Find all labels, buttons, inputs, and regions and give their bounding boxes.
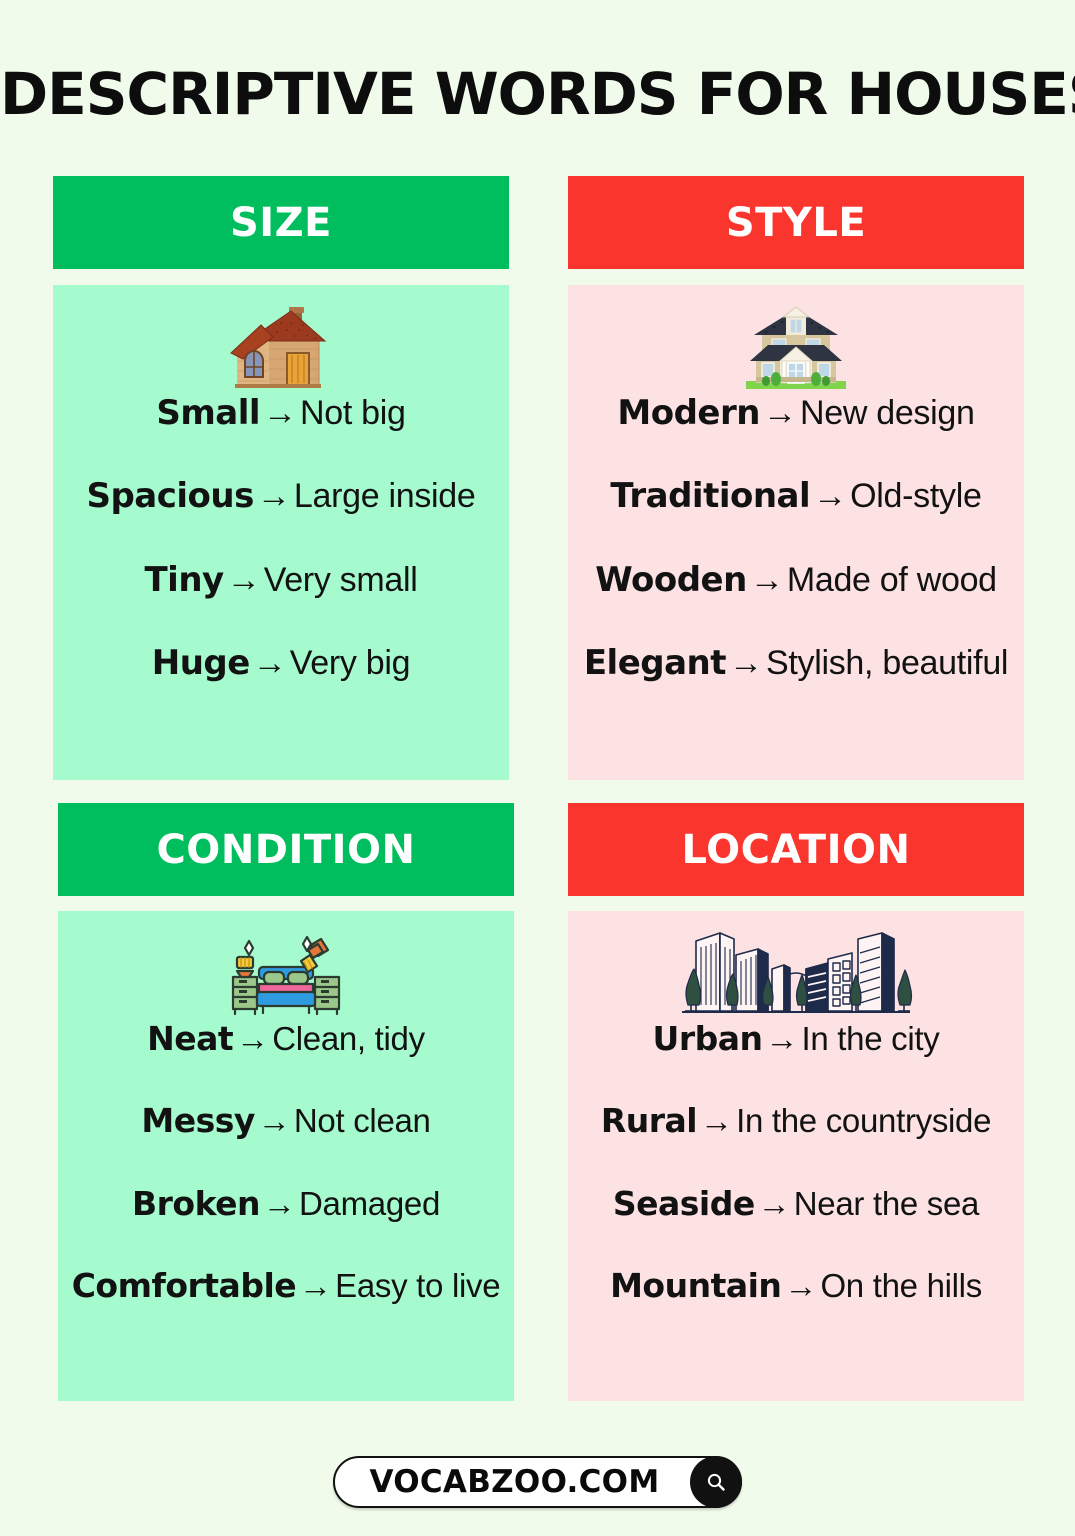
word-term: Urban: [653, 1019, 763, 1058]
word-meaning: Old-style: [850, 477, 981, 515]
card-size-header: SIZE: [53, 176, 509, 269]
word-term: Neat: [147, 1019, 233, 1058]
word-entry: Small→Not big: [53, 395, 509, 432]
word-term: Messy: [141, 1101, 255, 1140]
card-style-header: STYLE: [568, 176, 1024, 269]
word-meaning: In the countryside: [736, 1102, 991, 1139]
word-entry: Neat→Clean, tidy: [58, 1021, 514, 1057]
card-size: SIZE: [53, 176, 509, 780]
card-condition-body: Neat→Clean, tidy Messy→Not clean Broken→…: [58, 911, 514, 1401]
arrow-glyph: →: [224, 561, 264, 599]
card-size-entries: Small→Not big Spacious→Large inside Tiny…: [53, 395, 509, 729]
word-meaning: New design: [800, 394, 975, 432]
card-location-header: LOCATION: [568, 803, 1024, 896]
site-badge[interactable]: VOCABZOO.COM: [333, 1456, 741, 1508]
word-meaning: Stylish, beautiful: [766, 644, 1008, 682]
word-term: Broken: [132, 1184, 260, 1223]
word-term: Seaside: [613, 1184, 755, 1223]
arrow-glyph: →: [255, 1102, 294, 1139]
word-meaning: Not clean: [294, 1102, 431, 1139]
card-style: STYLE: [568, 176, 1024, 780]
card-condition-entries: Neat→Clean, tidy Messy→Not clean Broken→…: [58, 1021, 514, 1350]
arrow-glyph: →: [254, 477, 294, 515]
word-entry: Wooden→Made of wood: [568, 562, 1024, 599]
word-meaning: Near the sea: [794, 1185, 979, 1222]
card-style-entries: Modern→New design Traditional→Old-style …: [568, 395, 1024, 729]
card-location: LOCATION: [568, 803, 1024, 1401]
arrow-glyph: →: [755, 1185, 794, 1222]
word-meaning: In the city: [802, 1020, 940, 1057]
wooden-cottage-icon: [229, 299, 333, 391]
word-entry: Tiny→Very small: [53, 562, 509, 599]
arrow-glyph: →: [781, 1267, 820, 1304]
word-meaning: Very small: [264, 561, 418, 599]
word-term: Huge: [152, 643, 250, 683]
colonial-house-icon: [742, 299, 850, 391]
word-meaning: Large inside: [294, 477, 476, 515]
word-entry: Broken→Damaged: [58, 1186, 514, 1222]
city-skyline-icon: [676, 925, 916, 1017]
word-entry: Rural→In the countryside: [568, 1103, 1024, 1139]
word-term: Elegant: [584, 643, 726, 683]
card-style-body: Modern→New design Traditional→Old-style …: [568, 285, 1024, 780]
tidy-bedroom-icon: [223, 925, 349, 1017]
word-term: Tiny: [144, 560, 223, 600]
word-meaning: Clean, tidy: [272, 1020, 425, 1057]
word-entry: Huge→Very big: [53, 645, 509, 682]
word-term: Modern: [617, 393, 760, 433]
arrow-glyph: →: [250, 644, 290, 682]
arrow-glyph: →: [763, 1020, 802, 1057]
word-term: Small: [156, 393, 260, 433]
word-term: Mountain: [610, 1266, 781, 1305]
arrow-glyph: →: [296, 1267, 335, 1304]
word-meaning: Easy to live: [335, 1267, 500, 1304]
word-entry: Messy→Not clean: [58, 1103, 514, 1139]
arrow-glyph: →: [810, 477, 850, 515]
word-meaning: Damaged: [299, 1185, 440, 1222]
card-size-body: Small→Not big Spacious→Large inside Tiny…: [53, 285, 509, 780]
word-term: Spacious: [86, 476, 253, 516]
word-entry: Elegant→Stylish, beautiful: [568, 645, 1024, 682]
card-location-body: Urban→In the city Rural→In the countrysi…: [568, 911, 1024, 1401]
arrow-glyph: →: [747, 561, 787, 599]
word-term: Comfortable: [72, 1266, 296, 1305]
arrow-glyph: →: [233, 1020, 272, 1057]
site-url-label: VOCABZOO.COM: [369, 1464, 689, 1500]
card-condition: CONDITION: [58, 803, 514, 1401]
card-condition-header: CONDITION: [58, 803, 514, 896]
word-term: Traditional: [610, 476, 810, 516]
word-entry: Mountain→On the hills: [568, 1268, 1024, 1304]
word-term: Wooden: [595, 560, 747, 600]
word-term: Rural: [601, 1101, 697, 1140]
arrow-glyph: →: [760, 394, 800, 432]
footer: VOCABZOO.COM: [0, 1456, 1075, 1508]
word-entry: Spacious→Large inside: [53, 478, 509, 515]
word-meaning: Very big: [290, 644, 410, 682]
arrow-glyph: →: [260, 394, 300, 432]
word-entry: Modern→New design: [568, 395, 1024, 432]
arrow-glyph: →: [260, 1185, 299, 1222]
page-title: DESCRIPTIVE WORDS FOR HOUSES: [0, 64, 1075, 125]
word-meaning: On the hills: [820, 1267, 981, 1304]
word-entry: Traditional→Old-style: [568, 478, 1024, 515]
card-location-entries: Urban→In the city Rural→In the countrysi…: [568, 1021, 1024, 1350]
word-entry: Seaside→Near the sea: [568, 1186, 1024, 1222]
word-meaning: Not big: [300, 394, 406, 432]
word-entry: Comfortable→Easy to live: [58, 1268, 514, 1304]
search-icon[interactable]: [690, 1456, 742, 1508]
infographic-page: DESCRIPTIVE WORDS FOR HOUSES SIZE: [0, 0, 1075, 1536]
arrow-glyph: →: [726, 644, 766, 682]
word-meaning: Made of wood: [787, 561, 997, 599]
word-entry: Urban→In the city: [568, 1021, 1024, 1057]
arrow-glyph: →: [697, 1102, 736, 1139]
